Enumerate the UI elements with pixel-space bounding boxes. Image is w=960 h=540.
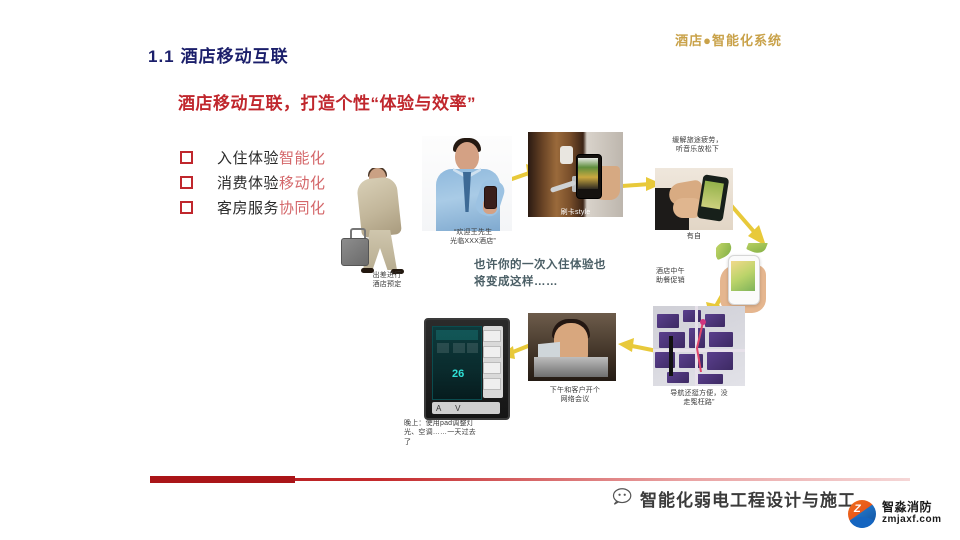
wechat-icon — [612, 487, 634, 506]
map-route-icon — [683, 318, 713, 378]
company-logo: Z — [848, 500, 876, 528]
logo-mark: Z — [854, 503, 861, 515]
bullet-list: 入住体验智能化 消费体验移动化 客房服务协同化 — [180, 145, 326, 220]
footer-divider-thick — [150, 476, 295, 483]
relax-device-screen — [701, 181, 724, 210]
caption-relax-bottom: 有自 — [668, 232, 720, 241]
caption-navigation: 导航还挺方便，没 走冤枉路” — [647, 389, 751, 408]
caption-pad-control: 晚上：使用pad调整灯 光、空调……一天过去 了 — [404, 419, 526, 447]
bullet-text-dark: 消费体验 — [217, 172, 279, 193]
bullet-text-dark: 入住体验 — [217, 147, 279, 168]
photo-businessman-phone-call — [422, 136, 512, 231]
door-sensor — [560, 146, 573, 164]
middle-note-line2: 将变成这样…… — [474, 274, 606, 291]
caption-welcome-message: “欢迎王先生 光临XXX酒店” — [428, 228, 518, 247]
photo-video-conference — [528, 313, 616, 381]
main-red-heading: 酒店移动互联，打造个性“体验与效率” — [178, 89, 476, 114]
map-pointer — [669, 336, 673, 376]
square-bullet-icon — [180, 151, 193, 164]
pad-av-label: A V — [436, 404, 466, 413]
section-number: 1.1 — [148, 47, 175, 66]
section-title: 酒店移动互联 — [181, 47, 289, 66]
mobile-phone-icon — [484, 186, 497, 209]
photo-door-smart-lock — [528, 132, 623, 217]
laptop-base — [534, 357, 608, 377]
leaf-icon-right — [746, 243, 768, 256]
photo-hand-holding-phone — [716, 243, 776, 315]
caption-video-meeting: 下午和客户开个 网络会议 — [530, 386, 620, 405]
slide-canvas: 酒店●智能化系统 1.1酒店移动互联 酒店移动互联，打造个性“体验与效率” 入住… — [0, 0, 960, 540]
photo-room-control-pad: 26 A V — [424, 318, 510, 420]
middle-note-line1: 也许你的一次入住体验也 — [474, 257, 606, 274]
list-item: 入住体验智能化 — [180, 145, 326, 170]
photo-traveler-with-suitcase — [341, 168, 423, 278]
pad-button-2[interactable] — [483, 346, 501, 358]
caption-relax-music: 缓解旅途疲劳， 听音乐放松下 — [655, 136, 740, 155]
footer-brand-text: 智能化弱电工程设计与施工 — [640, 486, 856, 511]
bullet-text-red: 移动化 — [279, 172, 326, 193]
smartphone-screen — [578, 158, 598, 189]
bullet-text-red: 协同化 — [279, 197, 326, 218]
square-bullet-icon — [180, 176, 193, 189]
caption-traveler: 出差进行 酒店预定 — [352, 271, 422, 290]
businessman-head — [455, 142, 479, 171]
square-bullet-icon — [180, 201, 193, 214]
bullet-text-dark: 客房服务 — [217, 197, 279, 218]
company-name: 智淼消防 — [882, 498, 932, 515]
header-right-label: 酒店●智能化系统 — [675, 30, 782, 49]
list-item: 消费体验移动化 — [180, 170, 326, 195]
photo-3d-city-navigation-map — [653, 306, 745, 386]
pad-button-3[interactable] — [483, 362, 501, 374]
smartphone-screen — [731, 261, 755, 291]
list-item: 客房服务协同化 — [180, 195, 326, 220]
pad-screen — [432, 326, 482, 400]
suitcase-icon — [341, 238, 369, 266]
logo-wave — [848, 517, 876, 528]
bullet-text-red: 智能化 — [279, 147, 326, 168]
pad-button-1[interactable] — [483, 330, 501, 342]
page-title: 1.1酒店移动互联 — [148, 42, 289, 67]
pad-button-4[interactable] — [483, 378, 501, 390]
caption-lunch-promo: 酒店中午 助餐促销 — [656, 267, 718, 286]
pad-temperature-readout: 26 — [452, 368, 464, 380]
caption-door-lock: 刷卡style — [528, 208, 623, 217]
photo-music-relax — [655, 168, 733, 230]
company-website: zmjaxf.com — [882, 514, 941, 525]
middle-note: 也许你的一次入住体验也 将变成这样…… — [474, 257, 606, 290]
